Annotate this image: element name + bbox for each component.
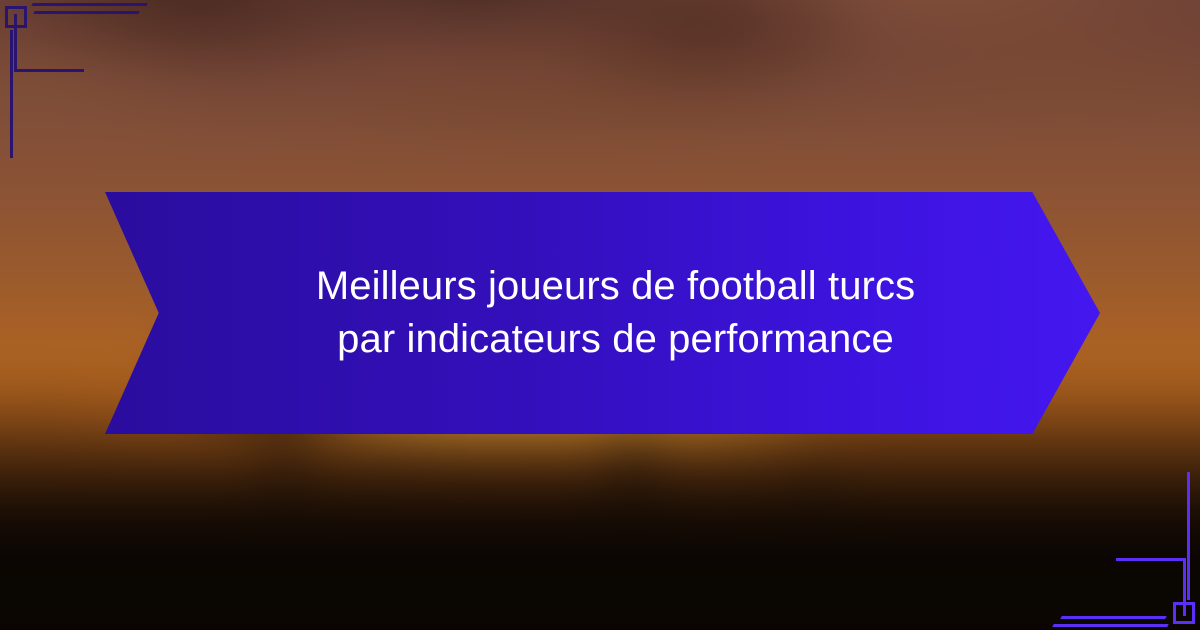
corner-decoration-bottom-right xyxy=(1000,470,1200,630)
corner-decoration-top-left xyxy=(0,0,200,160)
corner-line-bottom-outer xyxy=(1052,624,1168,627)
banner-title: Meilleurs joueurs de football turcs par … xyxy=(263,260,943,366)
corner-line-left xyxy=(10,30,13,158)
silhouette-post-left xyxy=(625,424,641,494)
corner-line-right xyxy=(1187,472,1190,600)
corner-square-icon xyxy=(5,6,27,28)
title-banner: Meilleurs joueurs de football turcs par … xyxy=(105,192,1100,434)
silhouette-post-right xyxy=(808,452,818,497)
banner-canvas: Meilleurs joueurs de football turcs par … xyxy=(0,0,1200,630)
corner-square-icon-br xyxy=(1173,602,1195,624)
corner-line-bottom-inner xyxy=(1060,616,1166,619)
corner-line-top-outer xyxy=(31,3,147,6)
